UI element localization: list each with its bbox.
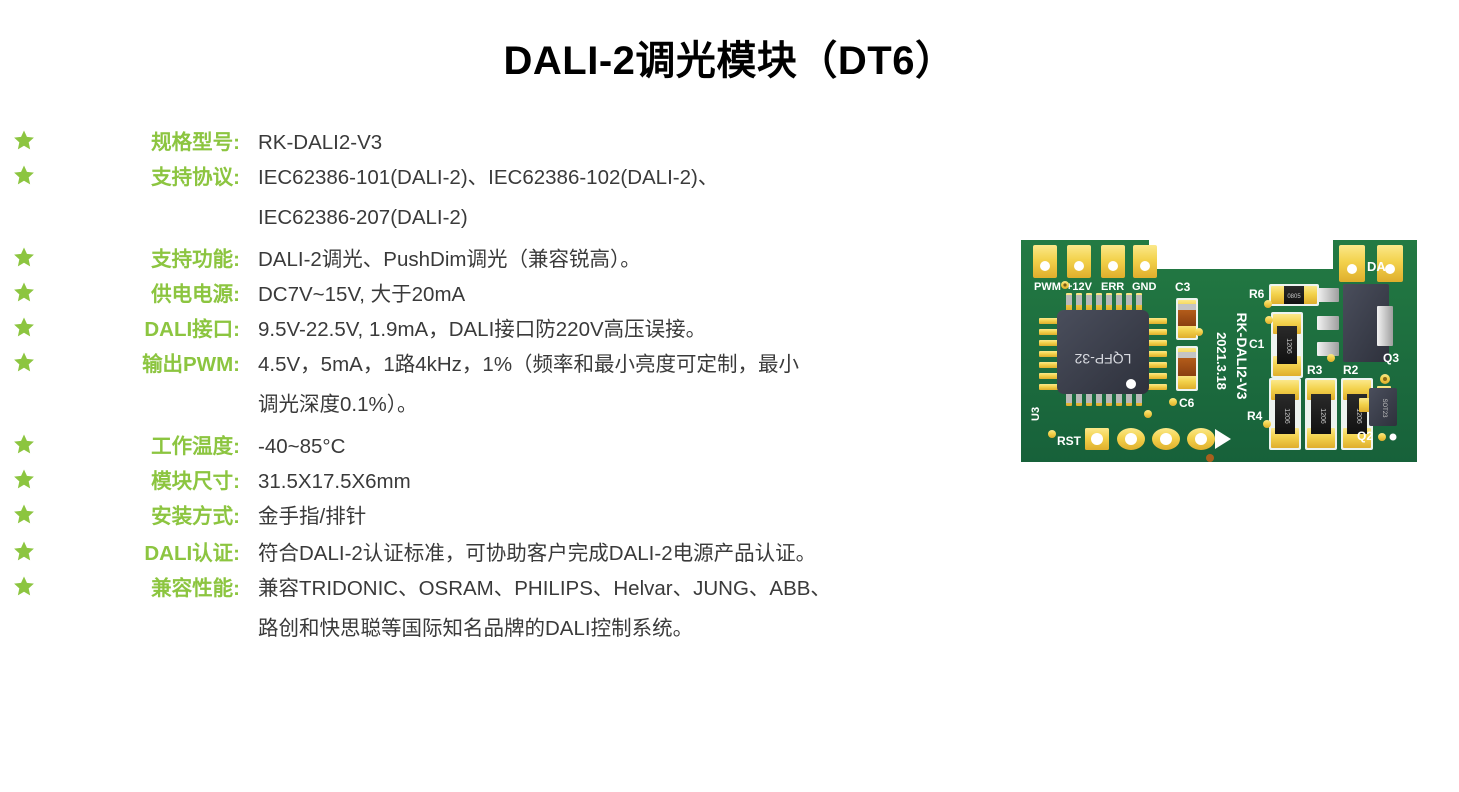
spec-bullet bbox=[0, 161, 48, 186]
pcb-ref-c1: C1 bbox=[1249, 337, 1265, 351]
spec-row: 支持协议:IEC62386-101(DALI-2)、IEC62386-102(D… bbox=[0, 161, 1010, 234]
spec-value: 4.5V，5mA，1路4kHz，1%（频率和最小亮度可定制，最小调光深度0.1%… bbox=[242, 348, 1010, 421]
pcb-label-gnd: GND bbox=[1132, 281, 1157, 293]
spec-bullet bbox=[0, 348, 48, 373]
pcb-via bbox=[1206, 454, 1214, 462]
pcb-ref-r4: R4 bbox=[1247, 409, 1263, 423]
spec-label: 模块尺寸: bbox=[48, 465, 242, 498]
pcb-marking-r3: 1206 bbox=[1319, 408, 1326, 424]
pcb-ref-c6: C6 bbox=[1179, 396, 1195, 410]
pcb-via bbox=[1144, 410, 1152, 418]
pcb-via bbox=[1390, 434, 1397, 441]
pcb-via bbox=[1327, 354, 1335, 362]
spec-value-line: 9.5V-22.5V, 1.9mA，DALI接口防220V高压误接。 bbox=[258, 313, 1010, 346]
product-spec-page: DALI-2调光模块（DT6） 规格型号:RK-DALI2-V3支持协议:IEC… bbox=[0, 0, 1459, 792]
spec-value: 符合DALI-2认证标准，可协助客户完成DALI-2电源产品认证。 bbox=[242, 537, 1010, 570]
pcb-component-c3 bbox=[1176, 298, 1198, 340]
spec-row: 供电电源:DC7V~15V, 大于20mA bbox=[0, 278, 1010, 311]
pcb-component-c6 bbox=[1176, 346, 1198, 391]
pcb-component-q3 bbox=[1317, 284, 1393, 362]
pcb-label-da: DA bbox=[1367, 259, 1386, 274]
spec-value: DALI-2调光、PushDim调光（兼容锐高）。 bbox=[242, 243, 1010, 276]
pcb-via bbox=[1265, 316, 1273, 324]
pcb-illustration: PWM +12V ERR GND DA bbox=[1021, 236, 1417, 466]
pcb-via bbox=[1195, 328, 1203, 336]
spec-value: 9.5V-22.5V, 1.9mA，DALI接口防220V高压误接。 bbox=[242, 313, 1010, 346]
spec-value-line: 31.5X17.5X6mm bbox=[258, 465, 1010, 498]
pcb-ref-r6: R6 bbox=[1249, 287, 1265, 301]
pcb-via bbox=[1264, 300, 1272, 308]
star-icon bbox=[13, 281, 35, 303]
star-icon bbox=[13, 468, 35, 490]
star-icon bbox=[13, 316, 35, 338]
pcb-via bbox=[1169, 398, 1177, 406]
pcb-via-hole bbox=[1383, 377, 1387, 381]
spec-value-line: 路创和快思聪等国际知名品牌的DALI控制系统。 bbox=[258, 612, 1010, 645]
pcb-ref-r2: R2 bbox=[1343, 363, 1359, 377]
pcb-module-image: PWM +12V ERR GND DA bbox=[1021, 236, 1417, 466]
spec-value: RK-DALI2-V3 bbox=[242, 126, 1010, 159]
star-icon bbox=[13, 246, 35, 268]
pcb-ref-c3: C3 bbox=[1175, 280, 1191, 294]
pcb-marking-c1: 1206 bbox=[1285, 338, 1292, 354]
spec-row: 规格型号:RK-DALI2-V3 bbox=[0, 126, 1010, 159]
spec-value: 31.5X17.5X6mm bbox=[242, 465, 1010, 498]
spec-label: 支持协议: bbox=[48, 161, 242, 194]
pcb-via bbox=[1263, 420, 1271, 428]
spec-bullet bbox=[0, 465, 48, 490]
spec-bullet bbox=[0, 500, 48, 525]
spec-bullet bbox=[0, 572, 48, 597]
spec-value-line: 调光深度0.1%）。 bbox=[258, 388, 1010, 421]
spec-label: DALI接口: bbox=[48, 313, 242, 346]
pcb-label-12v: +12V bbox=[1066, 281, 1093, 293]
spec-value: 金手指/排针 bbox=[242, 500, 1010, 533]
spec-label: 供电电源: bbox=[48, 278, 242, 311]
spec-label: 规格型号: bbox=[48, 126, 242, 159]
pcb-label-err: ERR bbox=[1101, 281, 1124, 293]
spec-bullet bbox=[0, 313, 48, 338]
spec-value-line: RK-DALI2-V3 bbox=[258, 126, 1010, 159]
spec-value: 兼容TRIDONIC、OSRAM、PHILIPS、Helvar、JUNG、ABB… bbox=[242, 572, 1010, 645]
pcb-silk-board-name: RK-DALI2-V3 bbox=[1234, 312, 1250, 399]
spec-label: 支持功能: bbox=[48, 243, 242, 276]
page-title: DALI-2调光模块（DT6） bbox=[0, 28, 1459, 86]
spec-bullet bbox=[0, 537, 48, 562]
pcb-ref-r3: R3 bbox=[1307, 363, 1323, 377]
pcb-via bbox=[1048, 430, 1056, 438]
pcb-test-pads bbox=[1085, 428, 1231, 450]
pcb-marking-q2: SOT23 bbox=[1381, 398, 1387, 418]
spec-value-line: -40~85°C bbox=[258, 430, 1010, 463]
spec-value-line: IEC62386-207(DALI-2) bbox=[258, 201, 1010, 234]
pcb-component-r6: 0805 bbox=[1269, 284, 1319, 306]
spec-row: DALI接口:9.5V-22.5V, 1.9mA，DALI接口防220V高压误接… bbox=[0, 313, 1010, 346]
pcb-ref-q2: Q2 bbox=[1357, 429, 1373, 443]
spec-value: -40~85°C bbox=[242, 430, 1010, 463]
spec-bullet bbox=[0, 126, 48, 151]
spec-value: DC7V~15V, 大于20mA bbox=[242, 278, 1010, 311]
spec-value-line: 兼容TRIDONIC、OSRAM、PHILIPS、Helvar、JUNG、ABB… bbox=[258, 572, 1010, 605]
star-icon bbox=[13, 503, 35, 525]
spec-row: 模块尺寸:31.5X17.5X6mm bbox=[0, 465, 1010, 498]
star-icon bbox=[13, 129, 35, 151]
spec-row: DALI认证:符合DALI-2认证标准，可协助客户完成DALI-2电源产品认证。 bbox=[0, 537, 1010, 570]
pcb-label-pwm: PWM bbox=[1034, 281, 1061, 293]
spec-value-line: 金手指/排针 bbox=[258, 500, 1010, 533]
spec-bullet bbox=[0, 430, 48, 455]
star-icon bbox=[13, 540, 35, 562]
spec-value-line: 符合DALI-2认证标准，可协助客户完成DALI-2电源产品认证。 bbox=[258, 537, 1010, 570]
spec-label: 工作温度: bbox=[48, 430, 242, 463]
spec-bullet bbox=[0, 243, 48, 268]
pcb-label-rst: RST bbox=[1057, 434, 1082, 448]
pcb-silk-board-date: 2021.3.18 bbox=[1214, 332, 1229, 390]
spec-label: 输出PWM: bbox=[48, 348, 242, 381]
pcb-component-r3: 1206 bbox=[1305, 378, 1337, 450]
spec-label: 兼容性能: bbox=[48, 572, 242, 605]
spec-row: 输出PWM:4.5V，5mA，1路4kHz，1%（频率和最小亮度可定制，最小调光… bbox=[0, 348, 1010, 421]
spec-row: 工作温度:-40~85°C bbox=[0, 430, 1010, 463]
spec-row: 支持功能:DALI-2调光、PushDim调光（兼容锐高）。 bbox=[0, 243, 1010, 276]
pcb-ic-designator: U3 bbox=[1030, 407, 1042, 421]
star-icon bbox=[13, 351, 35, 373]
spec-value-line: DALI-2调光、PushDim调光（兼容锐高）。 bbox=[258, 243, 1010, 276]
pcb-component-r4: 1206 bbox=[1269, 378, 1301, 450]
pcb-marking-r6: 0805 bbox=[1287, 294, 1301, 300]
spec-bullet bbox=[0, 278, 48, 303]
star-icon bbox=[13, 164, 35, 186]
spec-value-line: 4.5V，5mA，1路4kHz，1%（频率和最小亮度可定制，最小 bbox=[258, 348, 1010, 381]
spec-value-line: DC7V~15V, 大于20mA bbox=[258, 278, 1010, 311]
star-icon bbox=[13, 575, 35, 597]
pcb-ref-q3: Q3 bbox=[1383, 351, 1399, 365]
pcb-component-c1: 1206 bbox=[1271, 312, 1303, 378]
spec-value-line: IEC62386-101(DALI-2)、IEC62386-102(DALI-2… bbox=[258, 161, 1010, 194]
star-icon bbox=[13, 433, 35, 455]
spec-list: 规格型号:RK-DALI2-V3支持协议:IEC62386-101(DALI-2… bbox=[0, 126, 1010, 647]
spec-row: 兼容性能:兼容TRIDONIC、OSRAM、PHILIPS、Helvar、JUN… bbox=[0, 572, 1010, 645]
pcb-ic-marking: LQFP-32 bbox=[1074, 351, 1131, 367]
spec-label: DALI认证: bbox=[48, 537, 242, 570]
spec-row: 安装方式:金手指/排针 bbox=[0, 500, 1010, 533]
pcb-via bbox=[1378, 433, 1386, 441]
spec-label: 安装方式: bbox=[48, 500, 242, 533]
pcb-via-hole bbox=[1063, 283, 1066, 286]
pcb-marking-r4: 1206 bbox=[1283, 408, 1290, 424]
spec-value: IEC62386-101(DALI-2)、IEC62386-102(DALI-2… bbox=[242, 161, 1010, 234]
